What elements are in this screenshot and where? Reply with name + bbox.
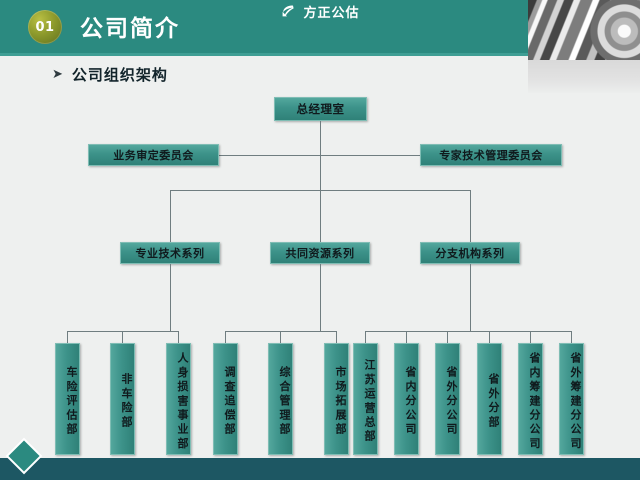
connector-series-drop-1 — [320, 190, 321, 242]
connector-s1-riser-1 — [280, 331, 281, 343]
org-leaf-2-4[interactable]: 省内筹建分公司 — [518, 343, 543, 455]
connector-s0-drop — [170, 264, 171, 331]
org-leaf-1-1[interactable]: 综合管理部 — [268, 343, 293, 455]
org-node-series-2[interactable]: 分支机构系列 — [420, 242, 520, 264]
org-leaf-1-2[interactable]: 市场拓展部 — [324, 343, 349, 455]
chevron-right-arrow-icon: ➤ — [52, 68, 63, 81]
org-leaf-2-5[interactable]: 省外筹建分公司 — [559, 343, 584, 455]
connector-s1-drop — [320, 264, 321, 331]
org-leaf-0-0[interactable]: 车险评估部 — [55, 343, 80, 455]
connector-s2-riser-3 — [489, 331, 490, 343]
org-leaf-2-2[interactable]: 省外分公司 — [435, 343, 460, 455]
connector-s0-riser-0 — [67, 331, 68, 343]
org-leaf-2-0[interactable]: 江苏运营总部 — [353, 343, 378, 455]
connector-s2-bus — [365, 331, 571, 332]
connector-s2-riser-5 — [571, 331, 572, 343]
org-node-root[interactable]: 总经理室 — [274, 97, 367, 121]
org-leaf-0-2[interactable]: 人身损害事业部 — [166, 343, 191, 455]
footer-bar — [0, 458, 640, 480]
org-leaf-1-0[interactable]: 调查追偿部 — [213, 343, 238, 455]
org-leaf-0-1[interactable]: 非车险部 — [110, 343, 135, 455]
header-underline — [0, 53, 528, 56]
slide-canvas: 01 公司简介 ➤ 公司组织架构 总经理室 业务审定委员会 专家技术管理委员会 … — [0, 0, 640, 480]
connector-s0-riser-1 — [122, 331, 123, 343]
leaf-swoosh-logo-icon — [280, 3, 296, 19]
footer-brand-group: 方正公估 — [0, 0, 640, 22]
connector-s2-riser-4 — [530, 331, 531, 343]
org-leaf-2-3[interactable]: 省外分部 — [477, 343, 502, 455]
subheading: ➤ 公司组织架构 — [52, 64, 168, 85]
connector-series-drop-2 — [470, 190, 471, 242]
connector-s0-riser-2 — [178, 331, 179, 343]
org-node-committee-1[interactable]: 专家技术管理委员会 — [420, 144, 562, 166]
org-node-series-0[interactable]: 专业技术系列 — [120, 242, 220, 264]
connector-series-drop-0 — [170, 190, 171, 242]
connector-s1-riser-0 — [225, 331, 226, 343]
org-node-committee-0[interactable]: 业务审定委员会 — [88, 144, 219, 166]
connector-s2-drop — [470, 264, 471, 331]
footer-brand-label: 方正公估 — [303, 2, 359, 21]
org-chart: 总经理室 业务审定委员会 专家技术管理委员会 专业技术系列 共同资源系列 分支机… — [0, 88, 640, 458]
connector-s2-riser-1 — [406, 331, 407, 343]
subheading-label: 公司组织架构 — [72, 64, 168, 85]
connector-s2-riser-0 — [365, 331, 366, 343]
connector-s2-riser-2 — [447, 331, 448, 343]
org-node-series-1[interactable]: 共同资源系列 — [270, 242, 370, 264]
connector-s1-riser-2 — [336, 331, 337, 343]
org-leaf-2-1[interactable]: 省内分公司 — [394, 343, 419, 455]
